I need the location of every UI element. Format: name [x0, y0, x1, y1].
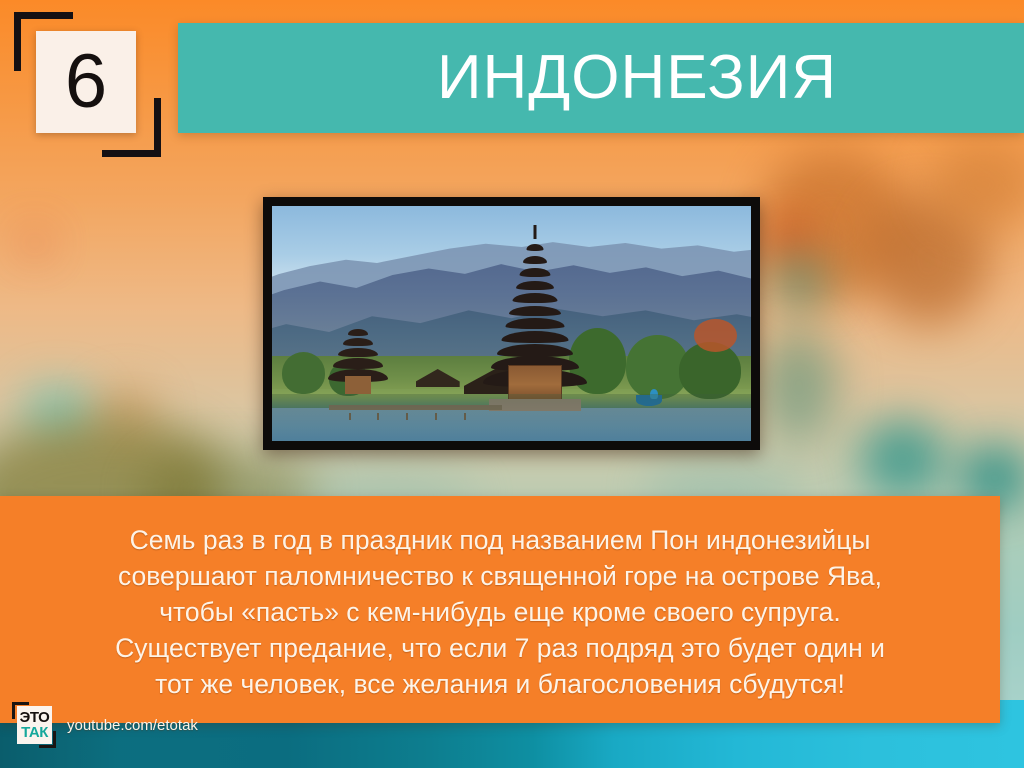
- slide-number-box: 6: [36, 31, 136, 133]
- caption-line: чтобы «пасть» с кем-нибудь еще кроме сво…: [159, 594, 841, 630]
- caption-line: совершают паломничество к священной горе…: [118, 558, 882, 594]
- caption-line: тот же человек, все желания и благослове…: [155, 666, 845, 702]
- slide-number-value: 6: [65, 44, 107, 120]
- etotak-logo[interactable]: ЭТО ТАК: [12, 702, 56, 748]
- slide-number-badge: 6: [14, 12, 154, 152]
- photo-water-reflection: [272, 394, 751, 441]
- caption-line: Существует предание, что если 7 раз подр…: [115, 630, 885, 666]
- logo-box: ЭТО ТАК: [17, 706, 52, 744]
- logo-line-2: ТАК: [21, 725, 48, 740]
- presentation-slide: 6 ИНДОНЕЗИЯ: [0, 0, 1024, 768]
- page-title: ИНДОНЕЗИЯ: [365, 47, 837, 109]
- photo-flowering-tree: [694, 319, 737, 352]
- footer-branding: ЭТО ТАК youtube.com/etotak: [12, 700, 198, 750]
- photo-tree: [282, 352, 325, 394]
- title-banner: ИНДОНЕЗИЯ: [178, 23, 1024, 133]
- logo-line-1: ЭТО: [20, 710, 50, 725]
- caption-line: Семь раз в год в праздник под названием …: [130, 522, 871, 558]
- bali-temple-photo: [272, 206, 751, 441]
- caption-panel: Семь раз в год в праздник под названием …: [0, 496, 1000, 723]
- channel-url[interactable]: youtube.com/etotak: [67, 717, 198, 734]
- photo-frame: [263, 197, 760, 450]
